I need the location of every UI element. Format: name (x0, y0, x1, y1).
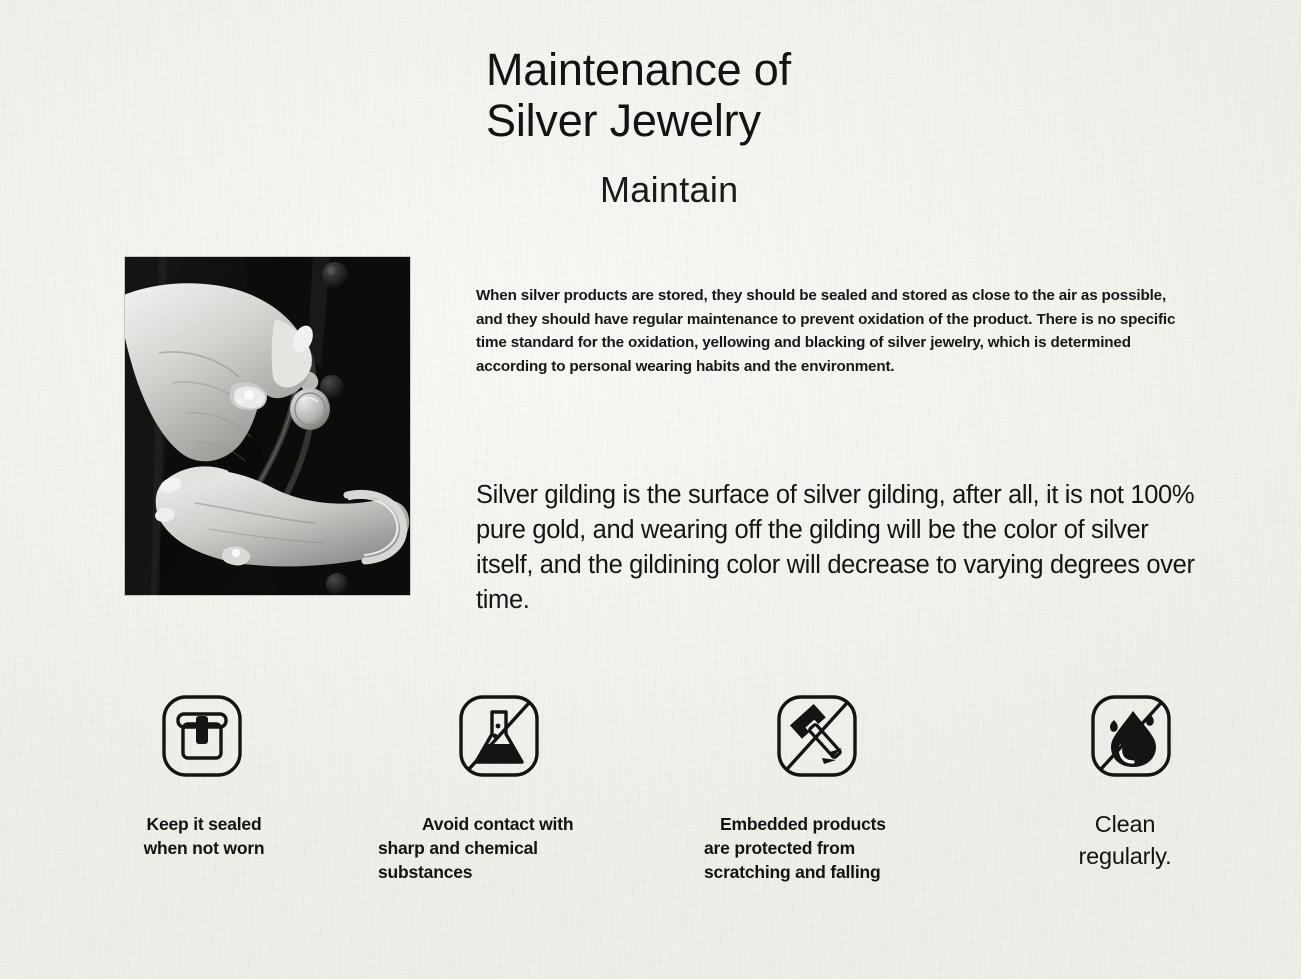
care-tip-caption: Avoid contact with sharp and chemical su… (378, 812, 608, 884)
no-chemical-flask-icon (456, 690, 542, 782)
care-tip-caption: Embedded products are protected from scr… (704, 812, 934, 884)
care-tips-row: Keep it sealed when not worn Avoid conta… (0, 690, 1301, 920)
page-title-line-2: Silver Jewelry (486, 95, 1186, 146)
care-tip-item: Clean regularly. (1088, 690, 1240, 872)
jewelry-hands-photo (125, 257, 410, 595)
page-title-line-1: Maintenance of (486, 44, 1186, 95)
no-water-droplet-icon (1088, 690, 1174, 782)
care-tip-item: Keep it sealed when not worn (159, 690, 309, 860)
paragraph-gilding: Silver gilding is the surface of silver … (476, 478, 1202, 618)
care-tip-item: Avoid contact with sharp and chemical su… (456, 690, 608, 884)
no-hammer-impact-icon (774, 690, 860, 782)
care-tip-caption: Clean regularly. (1010, 808, 1240, 872)
sealed-container-icon (159, 690, 245, 782)
page-subtitle: Maintain (600, 168, 738, 212)
paragraph-storage: When silver products are stored, they sh… (476, 284, 1188, 378)
page-title: Maintenance of Silver Jewelry (486, 44, 1186, 146)
care-tip-item: Embedded products are protected from scr… (774, 690, 934, 884)
poster-page: Maintenance of Silver Jewelry Maintain (0, 0, 1301, 979)
care-tip-caption: Keep it sealed when not worn (99, 812, 309, 860)
